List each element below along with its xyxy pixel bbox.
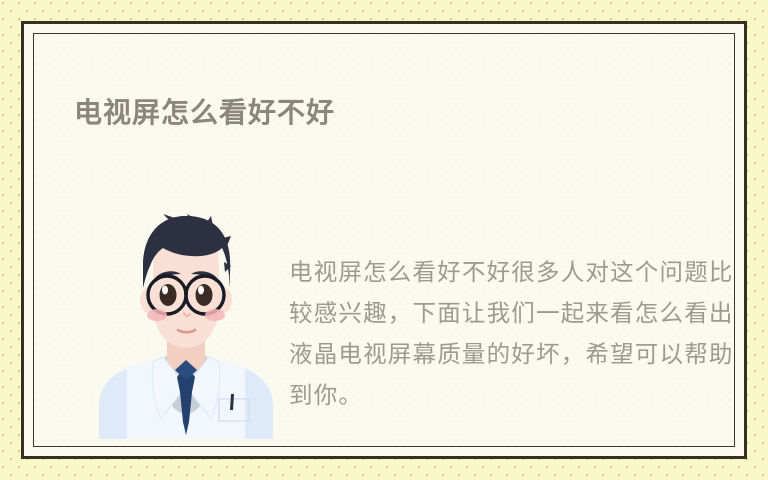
article-body: 电视屏怎么看好不好很多人对这个问题比较感兴趣，下面让我们一起来看怎么看出液晶电视…	[289, 252, 735, 416]
page-title: 电视屏怎么看好不好	[74, 95, 335, 131]
outer-frame-border: 电视屏怎么看好不好	[21, 21, 747, 459]
inner-frame-border: 电视屏怎么看好不好	[33, 33, 735, 447]
illustration-cartoon-man	[91, 214, 281, 439]
article-content: 电视屏怎么看好不好很多人对这个问题比较感兴趣，下面让我们一起来看怎么看出液晶电视…	[34, 184, 734, 434]
decorative-page: 电视屏怎么看好不好	[0, 0, 768, 480]
